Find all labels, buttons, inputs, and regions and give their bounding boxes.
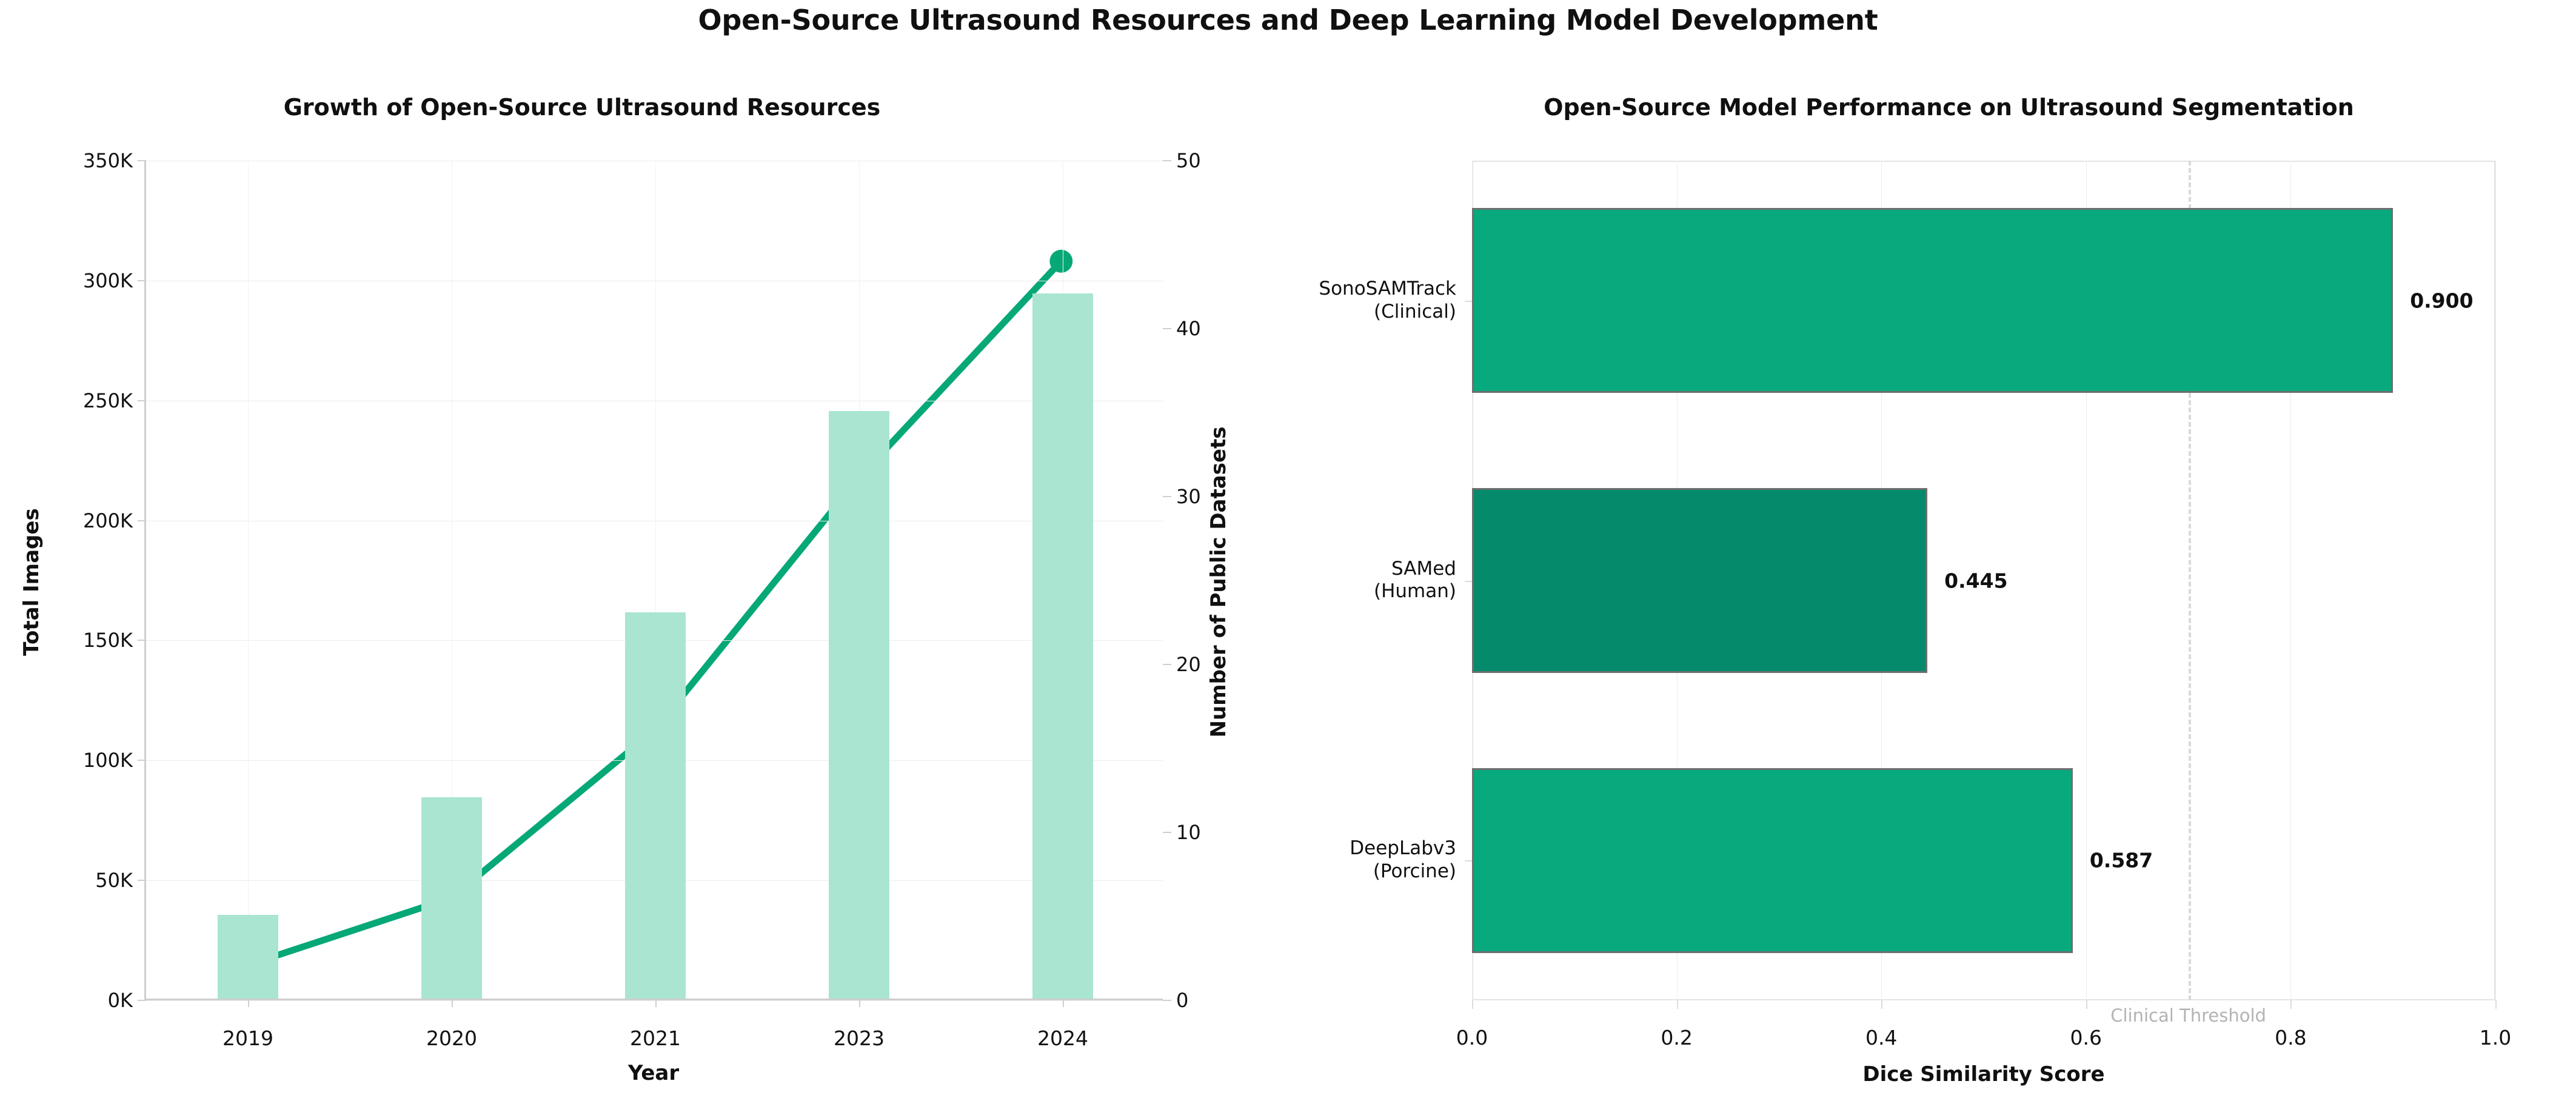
left-chart-plot-area: 0K50K100K150K200K250K300K350K01020304050… (144, 161, 1163, 1000)
left-chart-y2-tick-label: 50 (1176, 149, 1201, 172)
left-chart-y2-tick-label: 40 (1176, 317, 1201, 340)
right-chart-x-axis-label: Dice Similarity Score (1862, 1062, 2104, 1086)
left-chart-x-tick-label: 2024 (1037, 1026, 1088, 1050)
right-chart-x-tick-label: 0.0 (1456, 1026, 1488, 1049)
left-chart-y-tick-label: 0K (108, 989, 133, 1012)
right-chart-category-name: SonoSAMTrack (1319, 278, 1456, 301)
clinical-threshold-label: Clinical Threshold (2110, 1005, 2266, 1026)
left-chart-line-marker[interactable] (1049, 250, 1072, 273)
right-chart-bar[interactable] (1472, 208, 2393, 393)
left-chart-y2-tickmark (1163, 328, 1171, 329)
right-chart-y-tick-label: SAMed(Human) (1374, 558, 1456, 604)
left-chart-y-tickmark (138, 640, 146, 641)
right-chart-gridline (2495, 161, 2496, 1000)
left-chart-y-tickmark (138, 400, 146, 401)
left-chart-gridline (146, 1000, 1163, 1001)
left-chart-bar[interactable] (421, 797, 483, 999)
left-chart-y-axis-label: Total Images (19, 508, 44, 655)
right-chart-x-tickmark (1881, 1000, 1882, 1009)
right-chart-title: Open-Source Model Performance on Ultraso… (1310, 94, 2576, 121)
left-chart-gridline (146, 161, 1163, 161)
right-chart-x-tickmark (2290, 1000, 2292, 1009)
left-chart-vertical-gridline (248, 161, 249, 999)
right-chart-y-tickmark (1465, 581, 1472, 582)
chart-panel-growth: Growth of Open-Source Ultrasound Resourc… (0, 67, 1249, 1101)
left-chart-y-tick-label: 200K (83, 509, 133, 532)
left-chart-y2-tickmark (1163, 664, 1171, 665)
left-chart-y-tickmark (138, 280, 146, 281)
right-chart-x-tickmark (2086, 1000, 2087, 1009)
left-chart-gridline (146, 401, 1163, 401)
right-chart-x-tick-label: 1.0 (2480, 1026, 2511, 1049)
left-chart-y2-tick-label: 0 (1176, 989, 1188, 1012)
chart-panel-performance: Open-Source Model Performance on Ultraso… (1297, 67, 2576, 1101)
left-chart-bar[interactable] (218, 915, 279, 999)
left-chart-gridline (146, 521, 1163, 521)
right-chart-bar-value-label: 0.445 (1944, 569, 2007, 592)
right-chart-y-tickmark (1465, 860, 1472, 862)
left-chart-y2-tickmark (1163, 1000, 1171, 1001)
left-chart-y2-tickmark (1163, 496, 1171, 497)
left-chart-y2-axis-label: Number of Public Datasets (1206, 427, 1231, 738)
left-chart-y-tick-label: 300K (83, 269, 133, 292)
left-chart-bar[interactable] (625, 612, 686, 999)
left-chart-x-tickmark (1063, 999, 1064, 1007)
right-chart-category-qualifier: (Porcine) (1350, 860, 1456, 883)
left-chart-y-tick-label: 350K (83, 149, 133, 172)
left-chart-y-tick-label: 250K (83, 389, 133, 412)
figure-canvas: Open-Source Ultrasound Resources and Dee… (0, 0, 2576, 1101)
left-chart-x-tickmark (859, 999, 860, 1007)
left-chart-y-tick-label: 150K (83, 629, 133, 652)
left-chart-x-tickmark (248, 999, 249, 1007)
left-chart-x-axis-label: Year (628, 1061, 679, 1085)
right-chart-y-tick-label: SonoSAMTrack(Clinical) (1319, 278, 1456, 324)
right-chart-bar[interactable] (1472, 488, 1927, 673)
left-chart-y-tickmark (138, 1000, 146, 1001)
right-chart-y-tickmark (1465, 301, 1472, 302)
right-chart-bar-value-label: 0.900 (2410, 289, 2473, 312)
figure-suptitle: Open-Source Ultrasound Resources and Dee… (0, 4, 2576, 36)
left-chart-x-tick-label: 2021 (630, 1026, 681, 1050)
left-chart-gridline (146, 281, 1163, 281)
right-chart-x-tickmark (1677, 1000, 1678, 1009)
right-chart-category-qualifier: (Clinical) (1319, 301, 1456, 324)
right-chart-x-tickmark (2495, 1000, 2497, 1009)
right-chart-category-name: DeepLabv3 (1350, 837, 1456, 860)
right-chart-bar-value-label: 0.587 (2090, 849, 2153, 872)
left-chart-y2-tick-label: 30 (1176, 485, 1201, 508)
right-chart-x-tick-label: 0.6 (2070, 1026, 2102, 1049)
left-chart-y2-tickmark (1163, 160, 1171, 161)
left-chart-y-tickmark (138, 880, 146, 881)
right-chart-x-tick-label: 0.4 (1865, 1026, 1897, 1049)
left-chart-y2-tick-label: 20 (1176, 653, 1201, 676)
left-chart-y-tick-label: 100K (83, 749, 133, 772)
left-chart-bar[interactable] (829, 411, 890, 999)
right-chart-x-tick-label: 0.2 (1661, 1026, 1692, 1049)
left-chart-bar[interactable] (1032, 293, 1094, 999)
left-chart-y-tickmark (138, 160, 146, 161)
left-chart-title: Growth of Open-Source Ultrasound Resourc… (0, 94, 1206, 121)
left-chart-y-tick-label: 50K (95, 869, 133, 892)
left-chart-x-tick-label: 2020 (426, 1026, 477, 1050)
right-chart-category-qualifier: (Human) (1374, 581, 1456, 604)
left-chart-y2-tick-label: 10 (1176, 821, 1201, 844)
right-chart-bar[interactable] (1472, 768, 2073, 953)
right-chart-x-tick-label: 0.8 (2275, 1026, 2306, 1049)
left-chart-y-tickmark (138, 760, 146, 761)
left-chart-x-tick-label: 2019 (222, 1026, 273, 1050)
left-chart-x-tickmark (655, 999, 657, 1007)
right-chart-category-name: SAMed (1374, 558, 1456, 581)
left-chart-x-tick-label: 2023 (834, 1026, 885, 1050)
left-chart-x-tickmark (452, 999, 453, 1007)
right-chart-y-tick-label: DeepLabv3(Porcine) (1350, 837, 1456, 883)
left-chart-y2-tickmark (1163, 832, 1171, 833)
right-chart-x-tickmark (1472, 1000, 1473, 1009)
left-chart-y-tickmark (138, 520, 146, 521)
right-chart-plot-area: 0.00.20.40.60.81.0Clinical Threshold0.90… (1472, 161, 2495, 1000)
